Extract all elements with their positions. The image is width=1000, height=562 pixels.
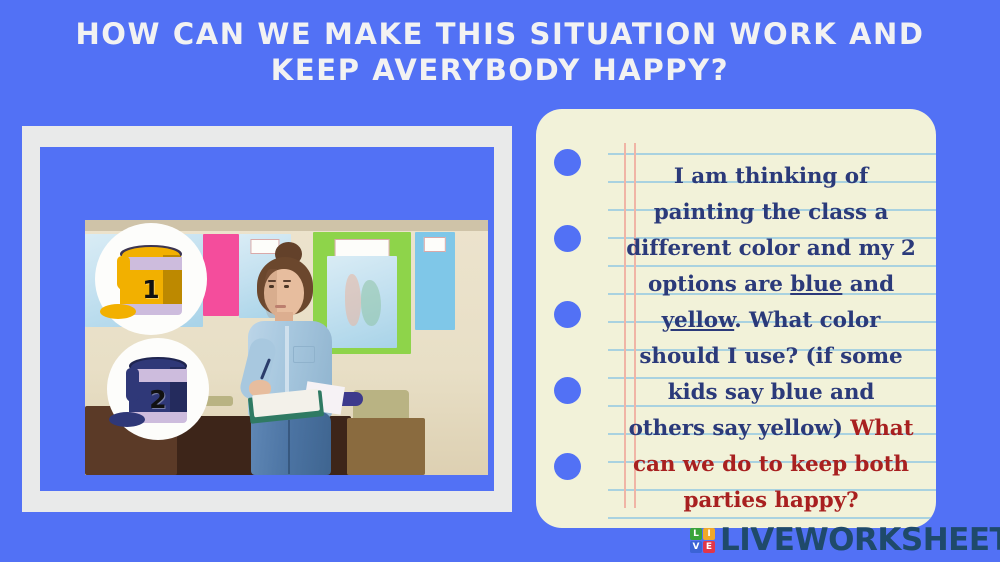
punch-hole <box>554 149 581 176</box>
word-yellow: yellow <box>662 308 735 333</box>
paint-can-number: 2 <box>129 385 187 414</box>
eyebrow-right <box>283 280 291 282</box>
logo-tile-l: L <box>690 528 702 540</box>
mouth <box>275 305 286 308</box>
punch-hole <box>554 225 581 252</box>
liveworksheets-logo[interactable]: LIVE LIVEWORKSHEETS <box>690 522 1000 558</box>
logo-tile-e: E <box>703 541 715 553</box>
photo-frame: 1 2 <box>22 126 512 512</box>
logo-tile-i: I <box>703 528 715 540</box>
badge-paint-can-2: 2 <box>107 338 209 440</box>
page-title: HOW CAN WE MAKE THIS SITUATION WORK AND … <box>0 16 1000 88</box>
punch-hole <box>554 301 581 328</box>
question-text: I am thinking of painting the class a di… <box>626 159 916 519</box>
logo-wordmark: LIVEWORKSHEETS <box>720 522 1000 558</box>
punch-hole <box>554 453 581 480</box>
notebook-rule <box>608 153 936 155</box>
logo-tiles: LIVE <box>690 528 715 553</box>
eye-right <box>284 285 289 288</box>
classroom-photo: 1 2 <box>85 220 488 475</box>
paint-can-number: 1 <box>120 275 182 304</box>
teacher-figure <box>233 242 353 475</box>
paint-can-yellow: 1 <box>120 243 182 315</box>
eye-left <box>269 285 274 288</box>
paint-can-blue: 2 <box>129 355 187 423</box>
desk-right <box>347 418 425 475</box>
paint-puddle <box>100 304 136 319</box>
word-blue: blue <box>790 272 842 297</box>
notebook-card: I am thinking of painting the class a di… <box>536 109 936 528</box>
paint-puddle <box>109 412 145 427</box>
badge-paint-can-1: 1 <box>95 223 207 335</box>
logo-tile-v: V <box>690 541 702 553</box>
poster-label <box>424 237 446 252</box>
poster-right-edge <box>415 232 455 330</box>
question-part-plain-2: and <box>842 272 894 297</box>
punch-hole <box>554 377 581 404</box>
photo-inner-border: 1 2 <box>40 147 494 491</box>
eyebrow-left <box>268 280 276 282</box>
shirt-pocket <box>293 346 315 363</box>
